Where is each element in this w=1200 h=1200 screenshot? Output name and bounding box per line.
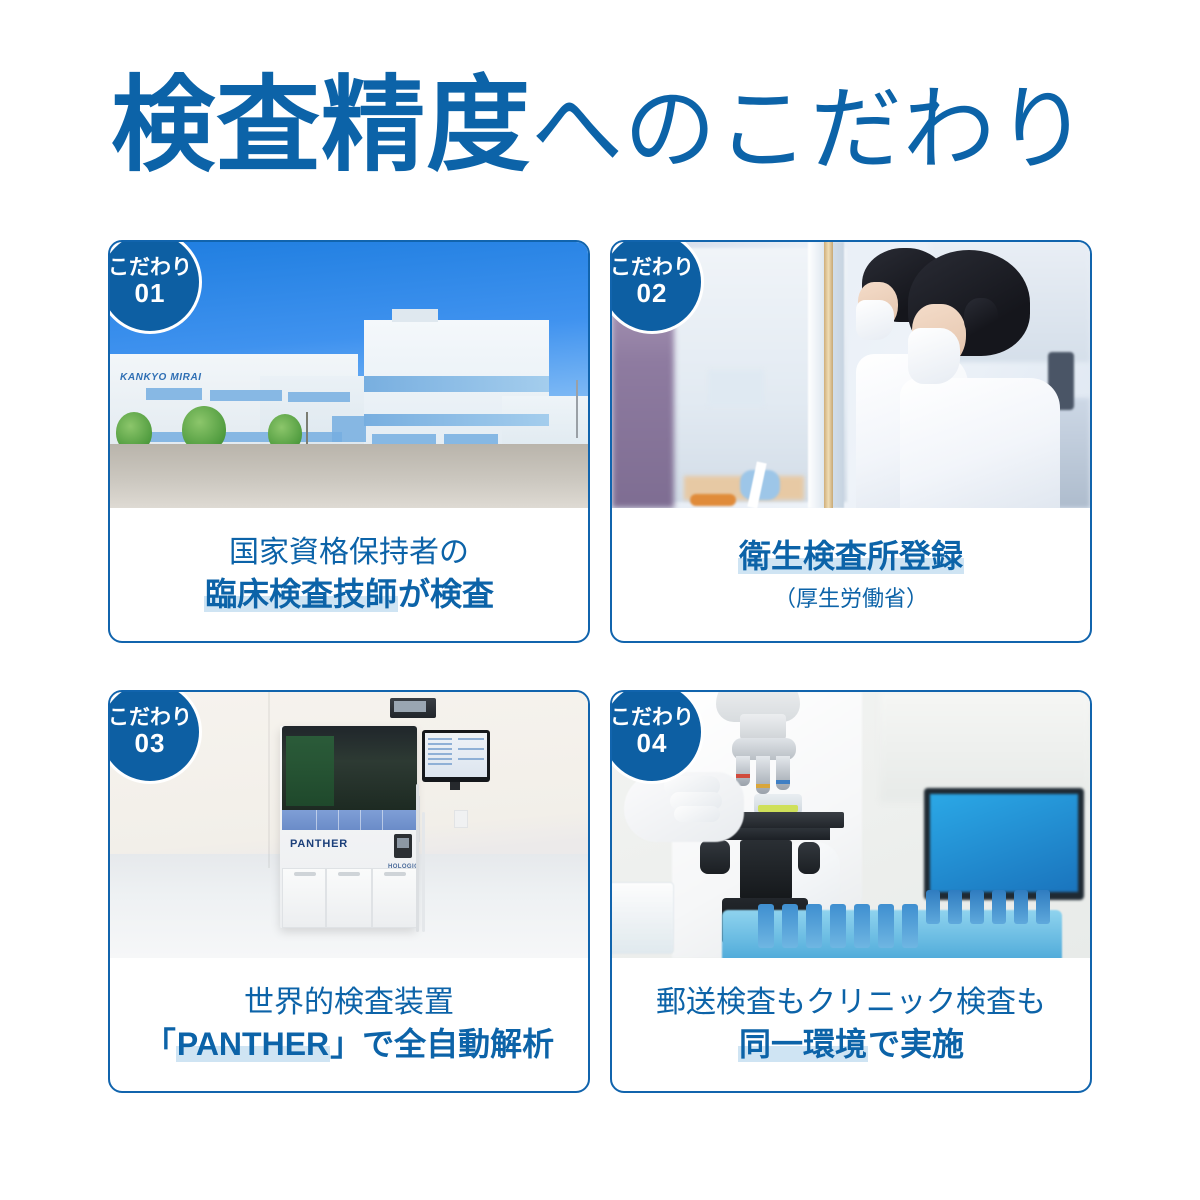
caption-rest: で実施: [868, 1026, 964, 1062]
badge-number: 02: [637, 279, 668, 309]
caption-highlight: 臨床検査技師: [204, 576, 398, 612]
card-02-photo: こだわり 02: [612, 242, 1090, 508]
badge-number: 04: [637, 729, 668, 759]
page-title: 検査精度へのこだわり: [0, 74, 1200, 178]
badge-word: こだわり: [110, 256, 192, 279]
card-02-caption: 衛生検査所登録 （厚生労働省）: [612, 508, 1090, 641]
caption-line-2: 「PANTHER」で全自動解析: [144, 1023, 554, 1066]
page-title-strong: 検査精度: [111, 68, 531, 184]
caption-line-1: 国家資格保持者の: [229, 533, 469, 573]
page-title-light: へのこだわり: [531, 79, 1089, 181]
badge-word: こだわり: [612, 706, 694, 729]
card-04-caption: 郵送検査もクリニック検査も 同一環境で実施: [612, 958, 1090, 1091]
caption-line-2: 衛生検査所登録: [738, 535, 964, 578]
feature-card-01[interactable]: KANKYO MIRAI こだわり 01 国家資格保持者の 臨床検査技師が検査: [108, 240, 590, 643]
caption-rest: 」で全自動解析: [330, 1026, 554, 1062]
caption-line-2: 同一環境で実施: [738, 1023, 964, 1066]
badge-number: 03: [135, 729, 166, 759]
card-01-caption: 国家資格保持者の 臨床検査技師が検査: [110, 508, 588, 641]
page-root: 検査精度へのこだわり: [0, 0, 1200, 1200]
feature-card-04[interactable]: こだわり 04 郵送検査もクリニック検査も 同一環境で実施: [610, 690, 1092, 1093]
machine-brand-text: PANTHER: [290, 838, 348, 850]
badge-number: 01: [135, 279, 166, 309]
caption-rest: が検査: [398, 576, 494, 612]
caption-highlight: PANTHER: [176, 1026, 330, 1062]
caption-highlight: 同一環境: [738, 1026, 868, 1062]
card-01-photo: KANKYO MIRAI こだわり 01: [110, 242, 588, 508]
badge-word: こだわり: [612, 256, 694, 279]
card-03-photo: PANTHER HOLOGIC: [110, 692, 588, 958]
building-sign-text: KANKYO MIRAI: [120, 372, 202, 383]
caption-line-1: 世界的検査装置: [244, 983, 454, 1023]
caption-highlight: 衛生検査所登録: [738, 538, 964, 574]
feature-card-02[interactable]: こだわり 02 衛生検査所登録 （厚生労働省）: [610, 240, 1092, 643]
caption-prefix: 「: [144, 1026, 176, 1062]
card-03-caption: 世界的検査装置 「PANTHER」で全自動解析: [110, 958, 588, 1091]
feature-card-grid: KANKYO MIRAI こだわり 01 国家資格保持者の 臨床検査技師が検査: [108, 240, 1092, 1100]
feature-card-03[interactable]: PANTHER HOLOGIC: [108, 690, 590, 1093]
caption-sub: （厚生労働省）: [774, 584, 928, 613]
caption-line-1: 郵送検査もクリニック検査も: [656, 983, 1046, 1023]
card-04-photo: こだわり 04: [612, 692, 1090, 958]
badge-word: こだわり: [110, 706, 192, 729]
caption-line-2: 臨床検査技師が検査: [204, 573, 494, 616]
